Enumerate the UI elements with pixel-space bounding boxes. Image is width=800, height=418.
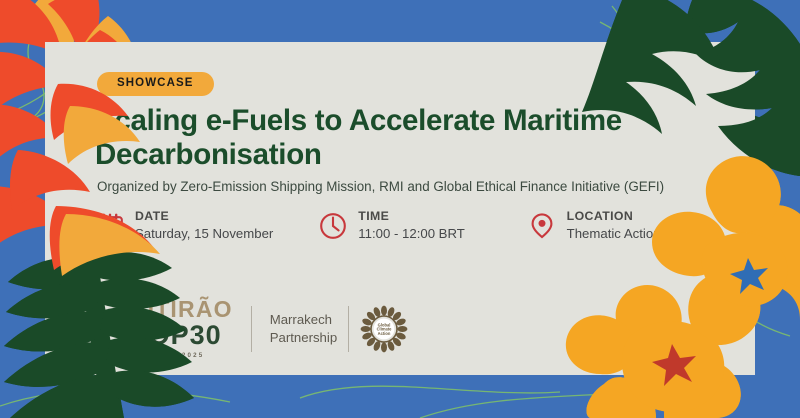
logo-divider	[251, 306, 252, 352]
event-title: Scaling e-Fuels to Accelerate Maritime D…	[95, 104, 715, 171]
location-pin-icon	[527, 211, 557, 241]
marrakech-partnership-logo: Marrakech Partnership	[270, 305, 408, 353]
detail-location-label: LOCATION	[567, 209, 711, 224]
detail-time-value: 11:00 - 12:00 BRT	[358, 226, 465, 243]
global-climate-action-emblem: Global Climate Action	[360, 305, 408, 353]
logo-bar: MUTIRÃO COP30 BELÉM 2025 Marrakech Partn…	[117, 298, 408, 359]
cop30-name-text: COP30	[117, 322, 233, 349]
detail-date-value: Saturday, 15 November	[135, 226, 273, 243]
emblem-label-line-3: Action	[378, 330, 391, 335]
event-organizers: Organized by Zero-Emission Shipping Miss…	[97, 178, 747, 195]
marrakech-line-2: Partnership	[270, 329, 337, 346]
event-poster: SHOWCASE Scaling e-Fuels to Accelerate M…	[0, 0, 800, 418]
clock-icon	[318, 211, 348, 241]
detail-time: TIME 11:00 - 12:00 BRT	[318, 209, 526, 243]
detail-time-label: TIME	[358, 209, 465, 224]
detail-date-label: DATE	[135, 209, 273, 224]
detail-location: LOCATION Thematic Action Room 4	[527, 209, 745, 243]
calendar-icon	[95, 211, 125, 241]
event-details-row: DATE Saturday, 15 November TIME 11:00 - …	[95, 209, 745, 243]
detail-location-value: Thematic Action Room 4	[567, 226, 711, 243]
showcase-badge: SHOWCASE	[97, 72, 214, 96]
marrakech-partnership-text: Marrakech Partnership	[270, 311, 337, 345]
event-card: SHOWCASE Scaling e-Fuels to Accelerate M…	[45, 42, 755, 375]
marrakech-line-1: Marrakech	[270, 311, 337, 328]
detail-date: DATE Saturday, 15 November	[95, 209, 318, 243]
cop30-place-text: BELÉM 2025	[117, 353, 233, 359]
cop30-mutirao-text: MUTIRÃO	[117, 298, 233, 321]
marrakech-divider	[348, 306, 349, 352]
cop30-logo: MUTIRÃO COP30 BELÉM 2025	[117, 298, 233, 359]
